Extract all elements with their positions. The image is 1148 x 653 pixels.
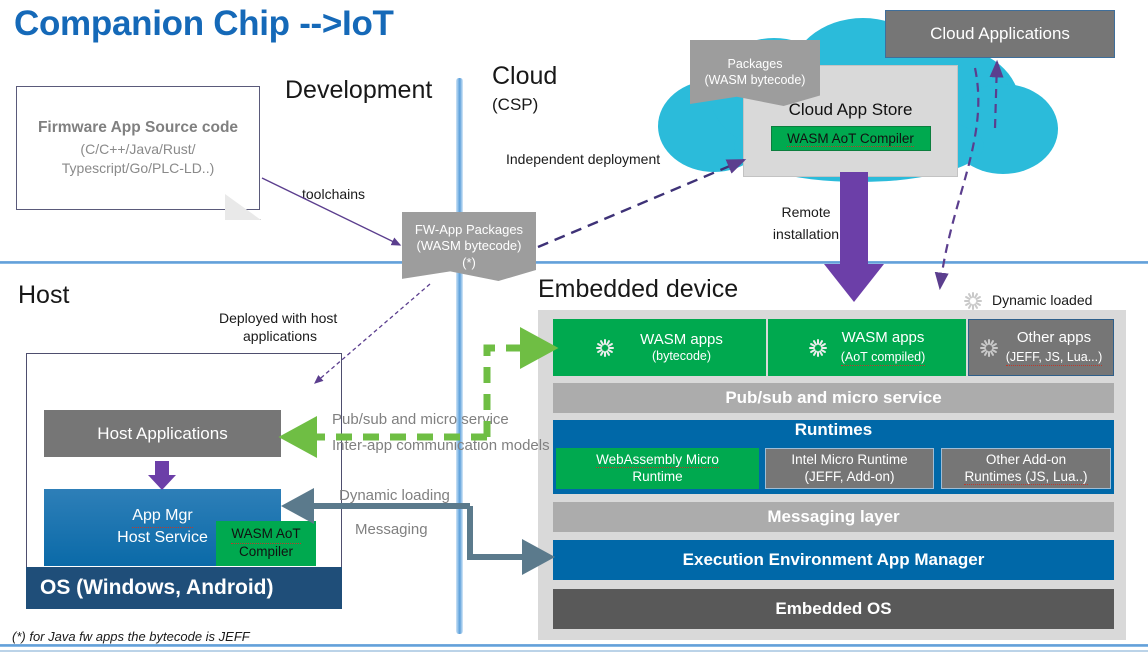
runtimes-title-label: Runtimes (795, 417, 872, 439)
firmware-source-code-box: Firmware App Source code (C/C++/Java/Rus… (16, 86, 260, 210)
annotation-deployed-with-host-line2: applications (243, 328, 317, 346)
section-caption-embedded-device: Embedded device (538, 275, 738, 304)
embedded-app-other[interactable]: Other apps (JEFF, JS, Lua...) (968, 319, 1114, 376)
embedded-app-2-name: WASM apps (841, 329, 926, 347)
annotation-inter-app-models: Inter-app communication models (332, 437, 550, 454)
embedded-app-2-detail: (AoT compiled) (841, 350, 926, 366)
runtime-3-line2: Runtimes (JS, Lua..) (964, 469, 1087, 485)
embedded-app-wasm-bytecode[interactable]: WASM apps (bytecode) (553, 319, 766, 376)
horizontal-divider-top (0, 261, 1148, 264)
source-box-title: Firmware App Source code (38, 119, 238, 137)
fw-packages-line2: (WASM bytecode) (417, 238, 522, 254)
source-box-line2: Typescript/Go/PLC-LD..) (62, 159, 215, 177)
app-mgr-line1: App Mgr (132, 506, 192, 528)
eeam-label: Execution Environment App Manager (683, 550, 985, 570)
execution-environment-app-manager[interactable]: Execution Environment App Manager (553, 540, 1114, 580)
footnote-text: (*) for Java fw apps the bytecode is JEF… (12, 629, 250, 644)
messaging-layer[interactable]: Messaging layer (553, 502, 1114, 532)
runtime-1-line2: Runtime (632, 469, 682, 484)
runtime-1-line1: WebAssembly Micro (596, 452, 719, 468)
annotation-independent-deployment: Independent deployment (506, 151, 660, 169)
section-caption-cloud-sub: (CSP) (492, 95, 538, 115)
annotation-deployed-with-host-line1: Deployed with host (219, 310, 337, 328)
messaging-layer-label: Messaging layer (767, 507, 899, 527)
runtime-3-line1: Other Add-on (986, 452, 1066, 467)
annotation-messaging: Messaging (355, 521, 428, 538)
annotation-toolchains: toolchains (302, 186, 365, 204)
runtime-2-line2: (JEFF, Add-on) (804, 469, 894, 484)
cloud-packages-line1: Packages (728, 57, 783, 73)
diagram-canvas: Companion Chip -->IoT Development Cloud … (0, 0, 1148, 653)
app-mgr-line2: Host Service (117, 528, 208, 549)
annotation-remote-installation-line2: installation (760, 226, 852, 244)
spinner-icon (809, 339, 827, 357)
pubsub-layer-label: Pub/sub and micro service (725, 388, 941, 408)
host-aot-line2: Compiler (239, 544, 293, 561)
pubsub-micro-service-layer[interactable]: Pub/sub and micro service (553, 383, 1114, 413)
annotation-pubsub-micro-service: Pub/sub and micro service (332, 411, 509, 428)
cloud-wasm-aot-compiler-box[interactable]: WASM AoT Compiler (771, 126, 931, 151)
embedded-app-1-name: WASM apps (640, 331, 723, 349)
section-caption-development: Development (285, 76, 432, 105)
cloud-app-store-title: Cloud App Store (789, 100, 913, 120)
embedded-os-label: Embedded OS (775, 599, 891, 619)
host-wasm-aot-compiler-box[interactable]: WASM AoT Compiler (216, 521, 316, 566)
cloud-applications-box[interactable]: Cloud Applications (885, 10, 1115, 58)
runtimes-layer[interactable]: Runtimes WebAssembly Micro Runtime Intel… (553, 420, 1114, 494)
runtime-webassembly-micro[interactable]: WebAssembly Micro Runtime (556, 448, 759, 489)
spinner-icon-legend (964, 292, 982, 315)
annotation-dynamic-loading: Dynamic loading (339, 487, 450, 504)
fw-app-packages-note: FW-App Packages (WASM bytecode) (*) (402, 212, 536, 281)
host-applications-box[interactable]: Host Applications (44, 410, 281, 457)
embedded-os-layer[interactable]: Embedded OS (553, 589, 1114, 629)
bottom-rule (0, 650, 1148, 652)
spinner-icon (980, 339, 998, 357)
page-title: Companion Chip -->IoT (14, 4, 394, 44)
annotation-remote-installation-line1: Remote (772, 204, 840, 222)
cloud-packages-note: Packages (WASM bytecode) (690, 40, 820, 106)
section-caption-cloud: Cloud (492, 62, 557, 91)
spinner-icon (596, 339, 614, 357)
cloud-packages-line2: (WASM bytecode) (705, 73, 806, 89)
horizontal-divider-bottom (0, 644, 1148, 647)
fw-packages-line1: FW-App Packages (415, 222, 523, 238)
host-os-bar[interactable]: OS (Windows, Android) (26, 567, 342, 609)
embedded-app-3-name: Other apps (1006, 329, 1103, 347)
embedded-app-1-detail: (bytecode) (640, 349, 723, 364)
runtime-2-line1: Intel Micro Runtime (791, 452, 907, 467)
embedded-app-3-detail: (JEFF, JS, Lua...) (1006, 350, 1103, 366)
host-applications-label: Host Applications (97, 424, 227, 444)
section-caption-host: Host (18, 281, 69, 310)
host-aot-line1: WASM AoT (231, 526, 300, 544)
annotation-dynamic-loaded: Dynamic loaded (992, 292, 1092, 310)
host-os-label: OS (Windows, Android) (40, 576, 274, 600)
cloud-applications-label: Cloud Applications (930, 24, 1070, 44)
source-box-line1: (C/C++/Java/Rust/ (80, 140, 195, 158)
runtime-other-addon[interactable]: Other Add-on Runtimes (JS, Lua..) (941, 448, 1111, 489)
cloud-wasm-aot-compiler-label: WASM AoT Compiler (787, 131, 914, 147)
fw-packages-line3: (*) (462, 255, 476, 271)
runtime-intel-micro[interactable]: Intel Micro Runtime (JEFF, Add-on) (765, 448, 934, 489)
embedded-app-wasm-aot[interactable]: WASM apps (AoT compiled) (768, 319, 966, 376)
